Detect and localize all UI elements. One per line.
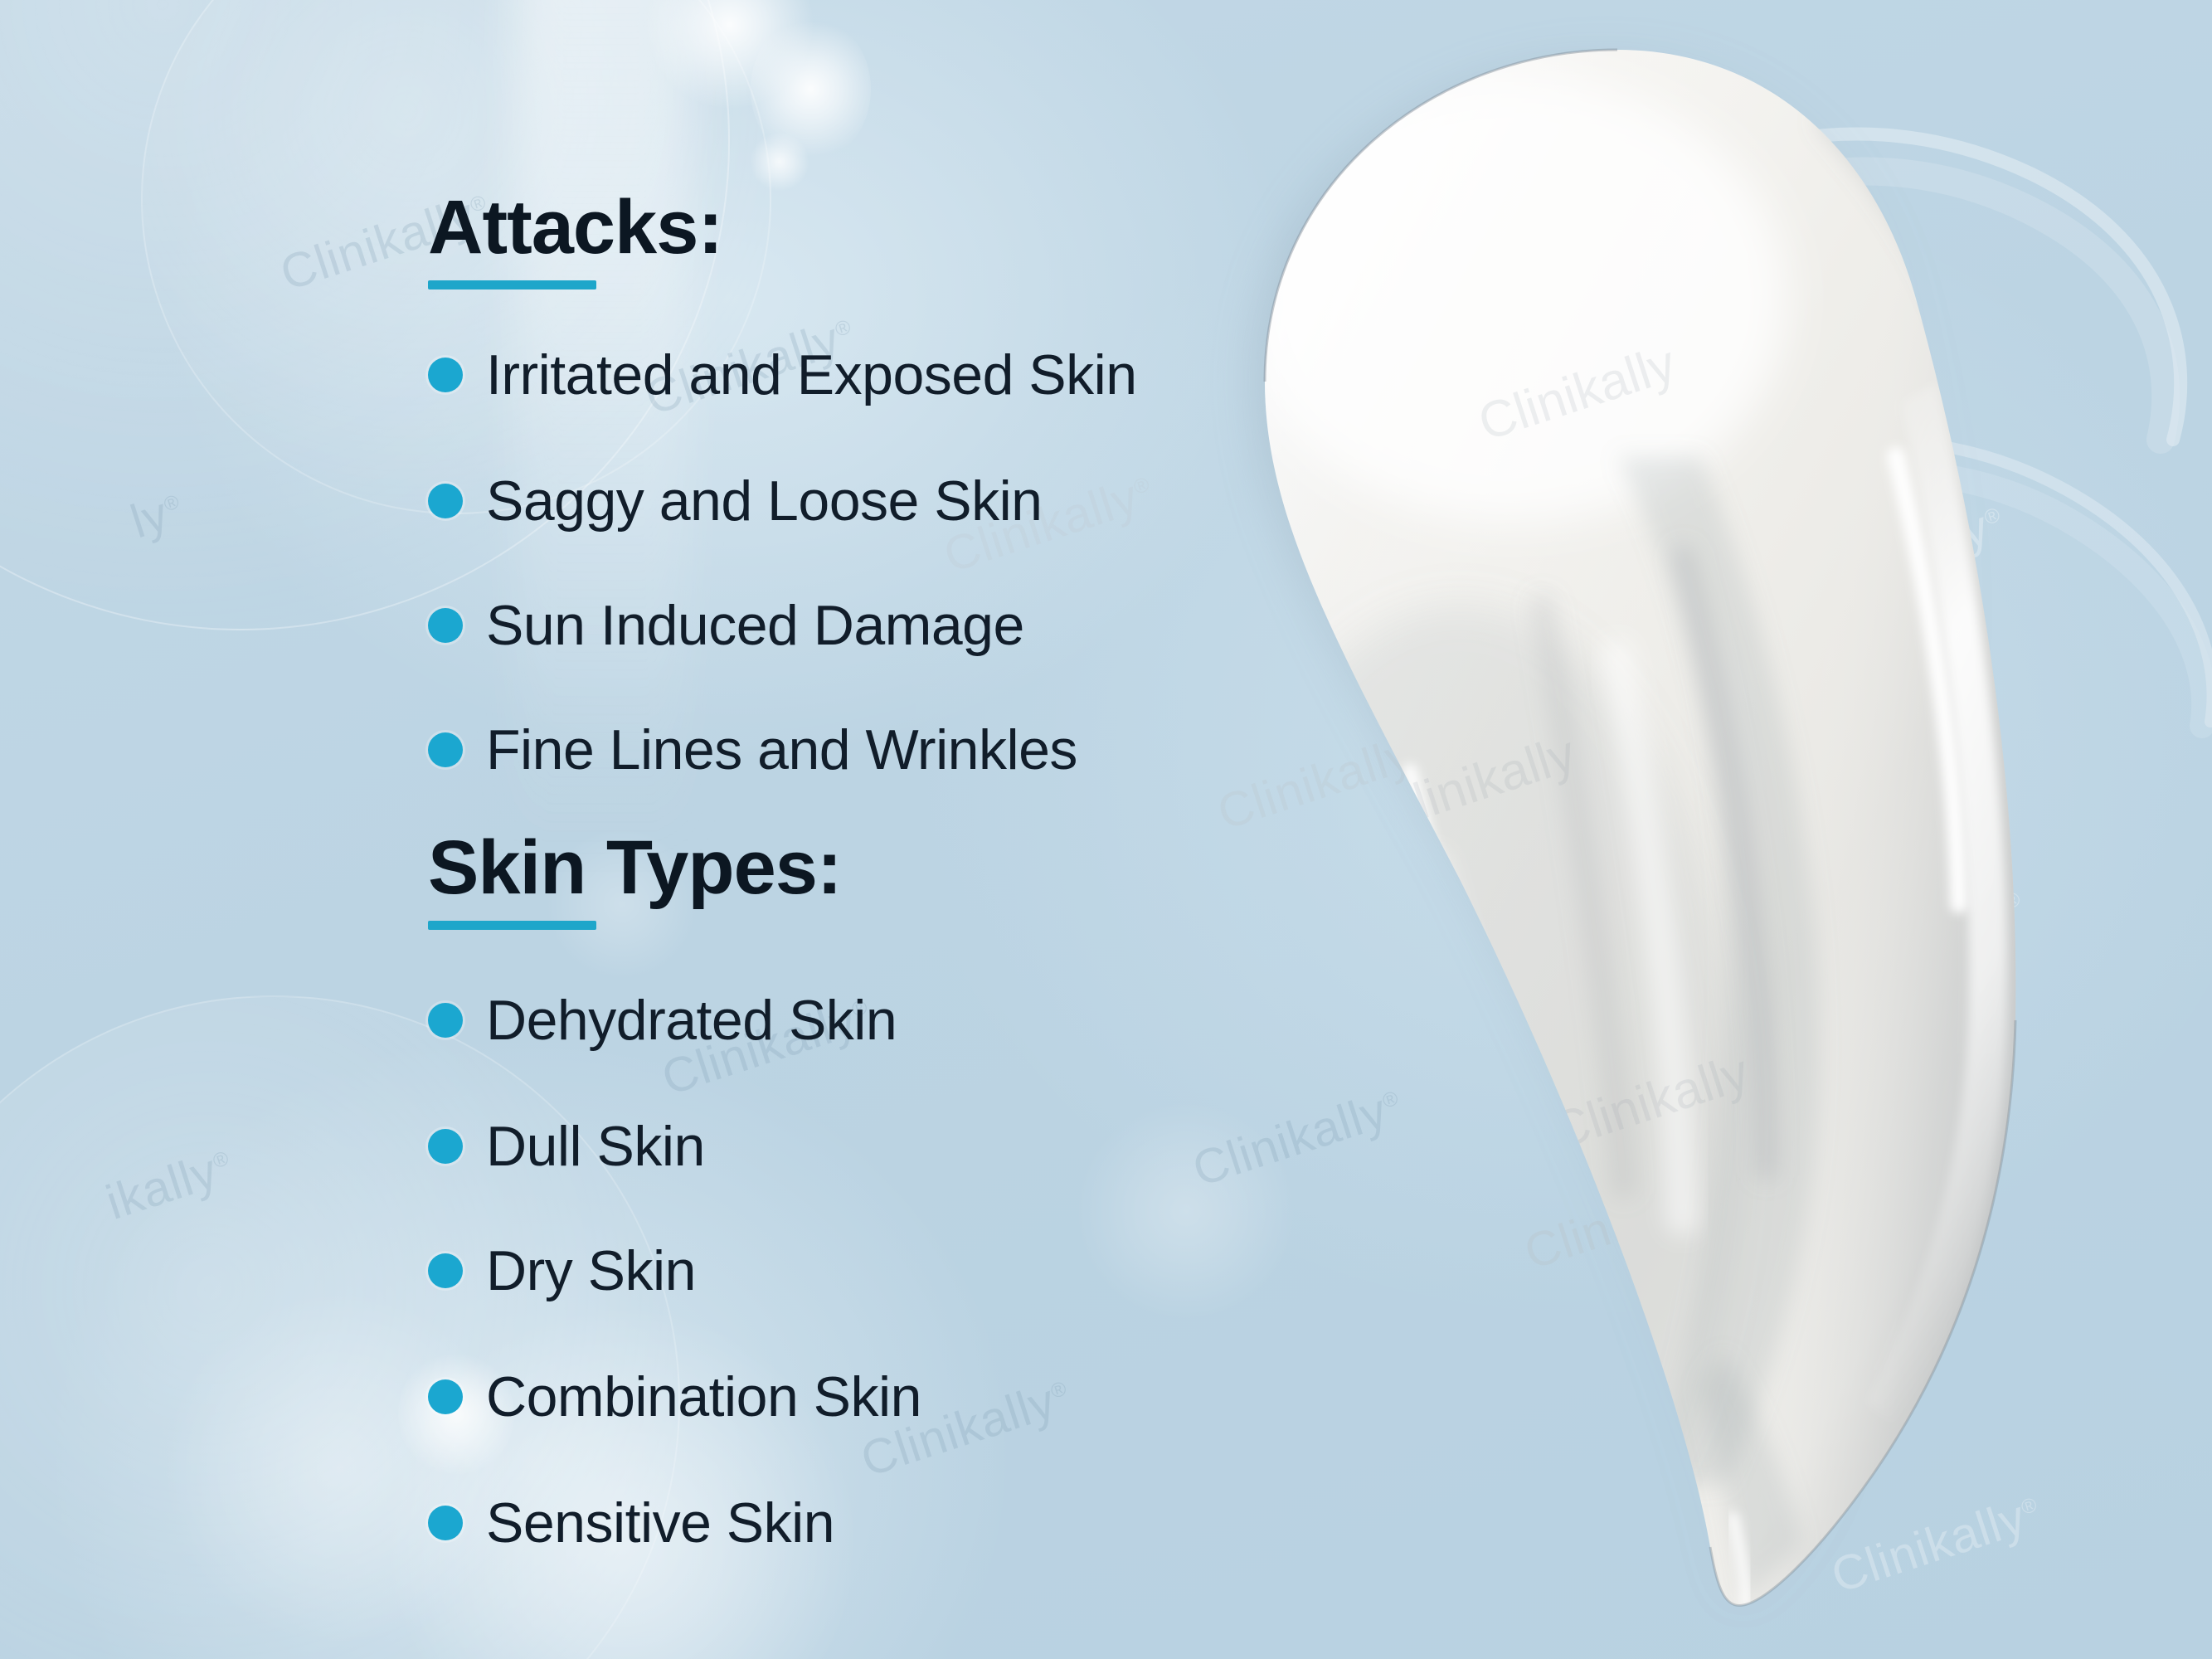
skin-types-heading-text: Skin Types: [428,829,842,906]
bullet-dot-icon [428,732,463,767]
list-item-label: Sun Induced Damage [486,597,1024,654]
bullet-dot-icon [428,1506,463,1540]
section-heading-attacks: Attacks: [428,189,722,289]
list-item: Sensitive Skin [428,1495,834,1551]
bullet-dot-icon [428,608,463,643]
attacks-heading-underline [428,280,596,289]
bullet-dot-icon [428,1379,463,1414]
bullet-dot-icon [428,484,463,518]
list-item-label: Dehydrated Skin [486,992,897,1048]
content-column: Attacks: Irritated and Exposed Skin Sagg… [0,0,1161,1659]
list-item-label: Dry Skin [486,1243,696,1299]
list-item-label: Combination Skin [486,1369,921,1425]
list-item-label: Sensitive Skin [486,1495,834,1551]
list-item: Dull Skin [428,1118,705,1175]
bullet-dot-icon [428,1003,463,1038]
list-item-label: Dull Skin [486,1118,705,1175]
product-infographic: ly® ikally® Clinikally® Clinikally® Clin… [0,0,2212,1659]
list-item: Dry Skin [428,1243,696,1299]
list-item: Irritated and Exposed Skin [428,347,1137,403]
list-item-label: Saggy and Loose Skin [486,473,1043,529]
list-item-label: Fine Lines and Wrinkles [486,722,1077,778]
list-item: Dehydrated Skin [428,992,897,1048]
bullet-dot-icon [428,1253,463,1288]
list-item: Sun Induced Damage [428,597,1024,654]
bullet-dot-icon [428,358,463,392]
cream-swatch-image: Clinikally Clinikally Clinikally [1186,25,2115,1642]
bullet-dot-icon [428,1129,463,1164]
skin-types-heading-underline [428,921,596,930]
section-heading-skin-types: Skin Types: [428,829,842,930]
list-item: Saggy and Loose Skin [428,473,1043,529]
attacks-heading-text: Attacks: [428,189,722,265]
list-item-label: Irritated and Exposed Skin [486,347,1137,403]
list-item: Fine Lines and Wrinkles [428,722,1077,778]
list-item: Combination Skin [428,1369,921,1425]
